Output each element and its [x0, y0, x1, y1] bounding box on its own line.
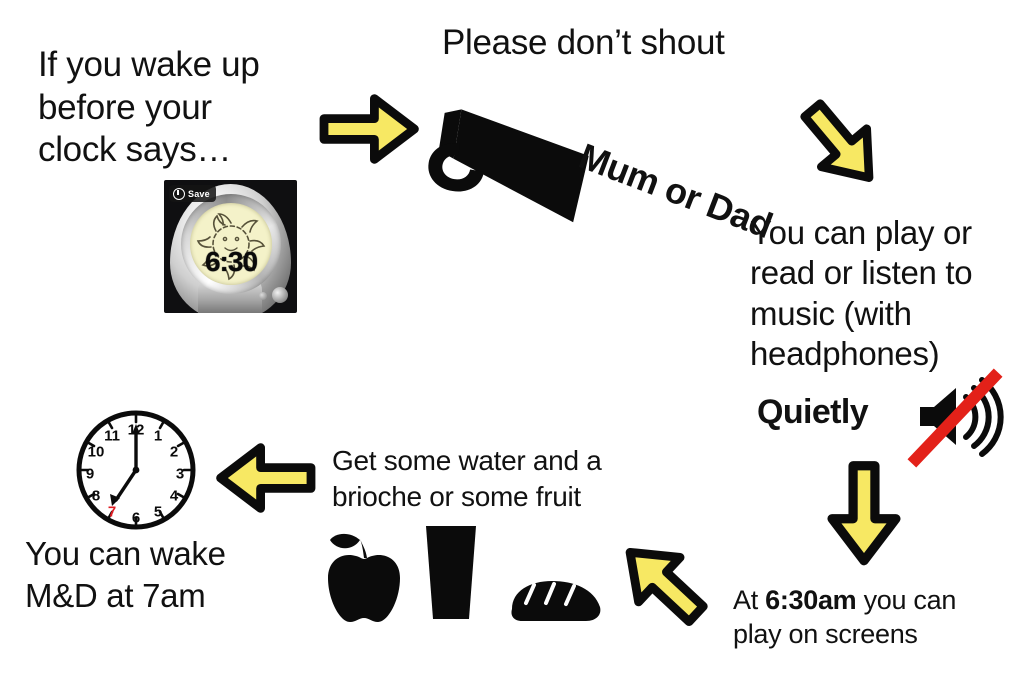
clock-photo-knob	[272, 287, 288, 303]
poster-canvas: 12 1 2 3 4 5 6 7 8 9 10 11	[0, 0, 1024, 676]
analog-clock-icon: 12 1 2 3 4 5 6 7 8 9 10 11	[72, 406, 200, 534]
pinterest-save-icon	[173, 188, 185, 200]
step4-text-before: At	[733, 585, 765, 615]
arrow-up-left-to-snack	[609, 530, 717, 636]
step-water-and-snack-text: Get some water and a brioche or some fru…	[332, 443, 632, 515]
clock-photo-face: 6:30	[190, 203, 272, 285]
arrow-right-to-megaphone	[324, 99, 414, 160]
bread-loaf-icon	[511, 581, 600, 621]
save-badge-label: Save	[188, 189, 210, 199]
svg-text:10: 10	[88, 444, 105, 461]
drinking-glass-icon	[426, 526, 476, 619]
megaphone-icon	[423, 106, 593, 223]
step-play-read-listen-text: You can play or read or listen to music …	[750, 213, 1018, 374]
quietly-label: Quietly	[757, 392, 868, 433]
step-dont-shout-text: Please don’t shout	[442, 22, 732, 65]
svg-text:7: 7	[108, 504, 116, 521]
svg-text:11: 11	[104, 428, 120, 445]
svg-text:3: 3	[176, 466, 184, 483]
svg-text:6: 6	[132, 510, 140, 527]
clock-photo-time: 6:30	[190, 246, 272, 278]
mute-speaker-icon	[916, 377, 1001, 459]
svg-text:1: 1	[154, 428, 162, 445]
clock-photo-small-knob	[259, 292, 267, 300]
svg-text:2: 2	[170, 444, 178, 461]
step-wake-parents-text: You can wake M&D at 7am	[25, 533, 285, 616]
svg-text:9: 9	[86, 466, 94, 483]
svg-text:5: 5	[154, 504, 162, 521]
step4-time-bold: 6:30am	[765, 585, 856, 615]
arrow-down-right-to-play	[790, 91, 892, 197]
alarm-clock-photo: 6:30 Save	[164, 180, 297, 313]
step-screens-at-630-text: At 6:30am you can play on screens	[733, 583, 983, 651]
apple-icon	[328, 534, 400, 622]
arrow-left-to-clock	[221, 448, 311, 509]
arrow-down-to-screens	[832, 466, 896, 561]
svg-text:8: 8	[92, 488, 100, 505]
step-wake-before-clock-text: If you wake up before your clock says…	[38, 44, 283, 172]
svg-text:4: 4	[170, 488, 179, 505]
save-badge[interactable]: Save	[169, 185, 216, 202]
